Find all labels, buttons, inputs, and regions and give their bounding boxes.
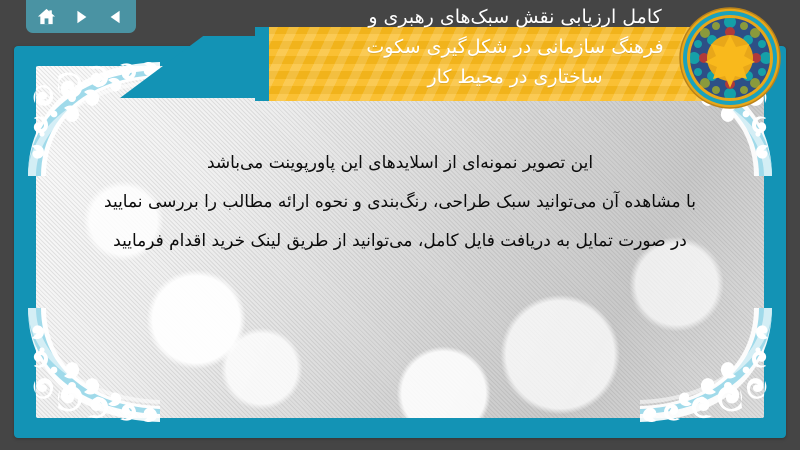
prev-arrow-icon[interactable] <box>105 6 127 28</box>
next-arrow-icon[interactable] <box>70 6 92 28</box>
page-title: کامل ارزیابی نقش سبک‌های رهبری و فرهنگ س… <box>300 2 730 92</box>
body-line-3: در صورت تمایل به دریافت فایل کامل، می‌تو… <box>54 222 746 261</box>
body-line-1: این تصویر نمونه‌ای از اسلایدهای این پاور… <box>54 144 746 183</box>
home-icon[interactable] <box>35 6 57 28</box>
persian-medallion-ornament-icon <box>678 6 782 110</box>
body-line-2: با مشاهده آن می‌توانید سبک طراحی، رنگ‌بن… <box>54 183 746 222</box>
slide-viewer: این تصویر نمونه‌ای از اسلایدهای این پاور… <box>0 0 800 450</box>
slide-frame: این تصویر نمونه‌ای از اسلایدهای این پاور… <box>14 46 786 438</box>
banner-left-tab <box>255 27 269 101</box>
slide-body-text: این تصویر نمونه‌ای از اسلایدهای این پاور… <box>54 144 746 261</box>
navigation-bar <box>26 0 136 33</box>
